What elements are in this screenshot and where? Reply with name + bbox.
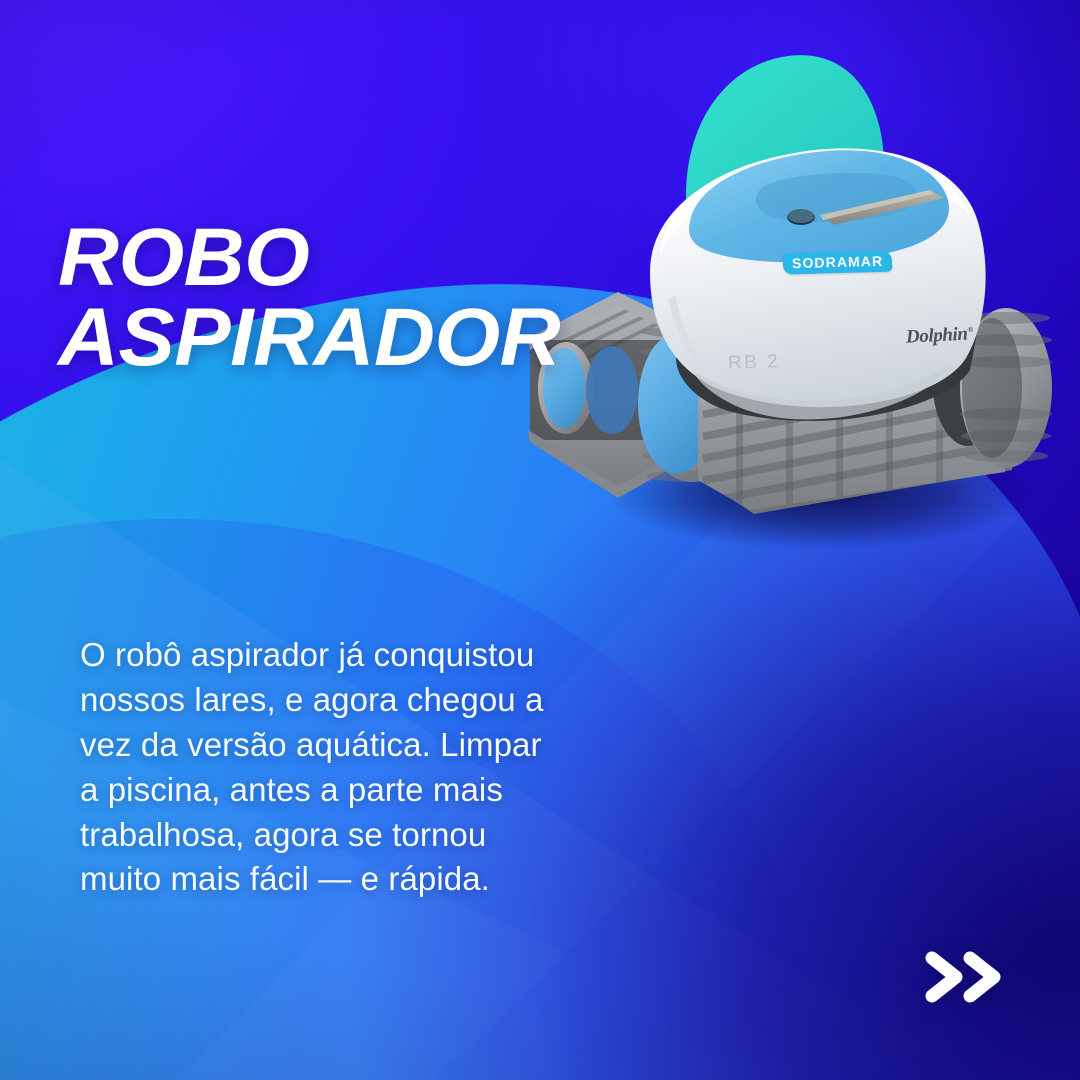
dolphin-wordmark: Dolphin bbox=[905, 324, 968, 348]
dolphin-trademark-icon: ® bbox=[967, 325, 973, 334]
headline: ROBO ASPIRADOR bbox=[58, 222, 546, 374]
headline-line-1: ROBO bbox=[58, 222, 560, 294]
brand-badge-sodramar: SODRAMAR bbox=[783, 251, 893, 275]
robot-shell bbox=[650, 148, 986, 420]
double-chevron-right-icon[interactable] bbox=[920, 946, 1012, 1008]
product-image: SODRAMAR RB 2 Dolphin® bbox=[500, 40, 1080, 600]
promo-poster: SODRAMAR RB 2 Dolphin® ROBO ASPIRADOR O … bbox=[0, 0, 1080, 1080]
brand-label-dolphin: Dolphin® bbox=[905, 323, 973, 348]
brand-badge-label: SODRAMAR bbox=[783, 251, 893, 275]
product-model-label: RB 2 bbox=[728, 351, 781, 375]
headline-line-2: ASPIRADOR bbox=[58, 302, 560, 374]
next-slide-chevrons[interactable] bbox=[920, 946, 1012, 1008]
body-paragraph: O robô aspirador já conquistou nossos la… bbox=[80, 633, 550, 902]
pool-cleaner-robot-illustration bbox=[500, 40, 1080, 600]
